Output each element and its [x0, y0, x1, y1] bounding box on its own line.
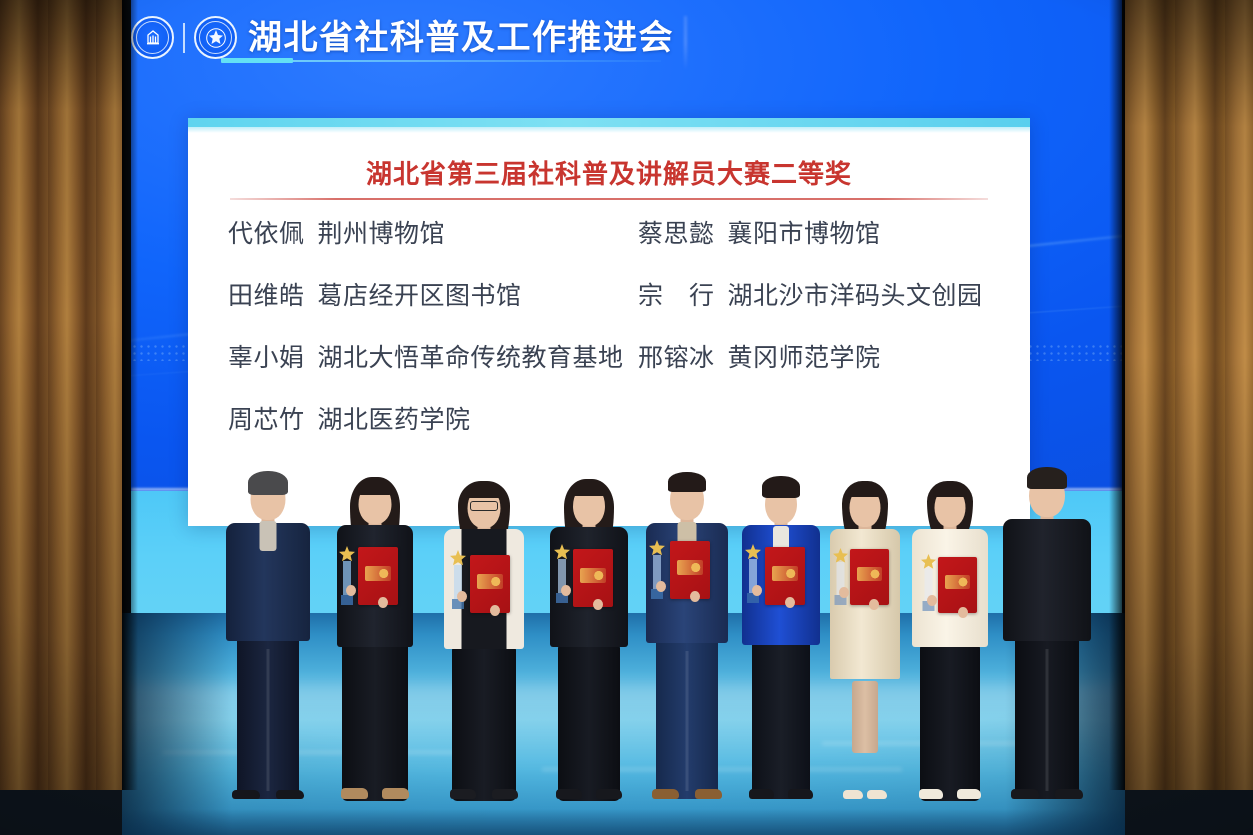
hair — [762, 476, 800, 498]
hair — [1027, 467, 1067, 489]
awardee-org: 湖北大悟革命传统教育基地 — [318, 338, 624, 374]
award-certificate — [850, 549, 889, 605]
awardee-name: 周芯竹 — [228, 400, 305, 436]
person-awardee-3[interactable] — [546, 475, 632, 799]
awardee-name: 辜小娟 — [228, 338, 305, 374]
person-awardee-6[interactable] — [824, 477, 906, 799]
awardee-name: 田维皓 — [228, 276, 305, 312]
panel-top-bar-glow — [188, 127, 1030, 133]
hand — [752, 585, 762, 596]
logo-group — [131, 16, 237, 59]
hand — [457, 591, 467, 602]
award-certificate — [358, 547, 398, 605]
star-trophy-icon — [832, 547, 849, 607]
stage-curtain-left — [0, 0, 122, 790]
hair — [848, 483, 882, 497]
hand — [958, 607, 968, 618]
award-list-panel: 湖北省第三届社科普及讲解员大赛二等奖 代依佩 荆州博物馆 蔡思懿 襄阳市博物馆 … — [188, 118, 1030, 526]
hair — [572, 481, 607, 496]
hand — [785, 597, 795, 608]
header-accent-bar — [221, 58, 293, 63]
leg-separation — [686, 651, 689, 791]
shoe — [1055, 789, 1083, 799]
shoe — [382, 788, 409, 799]
hand — [490, 605, 500, 616]
shoe — [450, 789, 476, 799]
award-certificate — [765, 547, 805, 605]
star-trophy-icon — [553, 543, 571, 605]
social-science-association-emblem-icon — [194, 16, 237, 59]
awardee-row: 周芯竹 湖北医药学院 — [188, 400, 1030, 462]
hair — [248, 471, 288, 495]
person-awardee-1[interactable] — [332, 473, 418, 799]
hand — [593, 599, 603, 610]
shoe — [596, 789, 622, 799]
wide-trousers — [920, 643, 980, 801]
hand — [656, 581, 666, 592]
award-certificate — [470, 555, 510, 613]
awardee-name: 蔡思懿 — [638, 214, 715, 250]
hair — [668, 472, 706, 492]
trousers — [558, 643, 620, 801]
awardee-cell-left: 辜小娟 湖北大悟革命传统教育基地 — [188, 338, 618, 374]
hand — [869, 599, 879, 610]
star-trophy-icon — [449, 549, 467, 611]
hand — [561, 585, 571, 596]
trousers — [752, 641, 810, 799]
curtain-shadow-left — [122, 0, 138, 790]
eyeglasses-icon — [470, 501, 498, 511]
hair — [466, 483, 502, 498]
panel-title-divider — [230, 198, 988, 200]
awardee-org: 葛店经开区图书馆 — [318, 276, 522, 312]
hand — [839, 587, 849, 598]
hand — [346, 585, 356, 596]
ceremony-photo: 湖北省社科普及工作推进会 湖北省第三届社科普及讲解员大赛二等奖 代依佩 荆州博物… — [0, 0, 1253, 835]
shoe — [695, 789, 722, 799]
shoe — [788, 789, 813, 799]
legs — [852, 681, 878, 753]
stage-front-edge — [122, 809, 1125, 835]
wide-trousers — [452, 645, 516, 801]
hand — [927, 595, 937, 606]
star-trophy-icon — [648, 539, 666, 601]
hand — [690, 591, 700, 602]
wide-trousers — [342, 641, 408, 801]
person-awardee-4[interactable] — [642, 469, 732, 799]
person-awardee-5[interactable] — [738, 473, 824, 799]
person-awardee-2[interactable] — [440, 477, 528, 799]
person-awardee-7[interactable] — [908, 477, 992, 799]
logo-divider — [183, 23, 185, 53]
shoe — [957, 789, 981, 799]
awardee-cell-right: 邢镕冰 黄冈师范学院 — [618, 338, 1030, 374]
dark-jacket — [1003, 519, 1091, 641]
curtain-shadow-right — [1109, 0, 1125, 790]
award-certificate — [938, 557, 977, 613]
awardee-org: 湖北医药学院 — [318, 400, 471, 436]
shoe — [867, 790, 887, 799]
shoe — [1011, 789, 1039, 799]
leg-separation — [267, 649, 270, 791]
stage-curtain-right — [1125, 0, 1253, 790]
awardee-cell-right: 蔡思懿 襄阳市博物馆 — [618, 214, 1030, 250]
awardee-org: 襄阳市博物馆 — [728, 214, 881, 250]
awardee-row: 代依佩 荆州博物馆 蔡思懿 襄阳市博物馆 — [188, 214, 1030, 276]
inner-shirt — [260, 521, 277, 551]
award-certificate — [670, 541, 710, 599]
awardee-org: 湖北沙市洋码头文创园 — [728, 276, 983, 312]
shoe — [556, 789, 582, 799]
header-accent-underline — [221, 58, 661, 62]
awardee-cell-right: 宗 行 湖北沙市洋码头文创园 — [618, 276, 1030, 312]
shoe — [843, 790, 863, 799]
awardee-org: 黄冈师范学院 — [728, 338, 881, 374]
shoe — [652, 789, 679, 799]
awardee-cell-left: 周芯竹 湖北医药学院 — [188, 400, 618, 436]
shoe — [341, 788, 368, 799]
award-panel-title: 湖北省第三届社科普及讲解员大赛二等奖 — [188, 154, 1030, 191]
award-certificate — [573, 549, 613, 607]
awardee-name: 代依佩 — [228, 214, 305, 250]
shoe — [749, 789, 774, 799]
shoe — [492, 789, 518, 799]
hair — [933, 483, 967, 497]
awardee-name: 邢镕冰 — [638, 338, 715, 374]
hand — [378, 597, 388, 608]
shoe — [919, 789, 943, 799]
leg-separation — [1046, 649, 1049, 791]
screen-vertical-artifact — [684, 16, 687, 70]
header-accent-line — [293, 60, 661, 62]
awardee-cell-left: 田维皓 葛店经开区图书馆 — [188, 276, 618, 312]
screen-header-title: 湖北省社科普及工作推进会 — [248, 21, 674, 55]
awardee-list: 代依佩 荆州博物馆 蔡思懿 襄阳市博物馆 田维皓 葛店经开区图书馆 宗 行 — [188, 214, 1030, 514]
person-presenter-left[interactable] — [222, 469, 314, 799]
floor-shadow-left — [122, 613, 232, 835]
screen-header: 湖北省社科普及工作推进会 — [131, 16, 674, 59]
star-trophy-icon — [744, 543, 762, 605]
star-trophy-icon — [338, 545, 356, 607]
awardee-row: 辜小娟 湖北大悟革命传统教育基地 邢镕冰 黄冈师范学院 — [188, 338, 1030, 400]
hair — [358, 479, 393, 495]
person-presenter-right[interactable] — [1000, 465, 1094, 799]
awardee-row: 田维皓 葛店经开区图书馆 宗 行 湖北沙市洋码头文创园 — [188, 276, 1030, 338]
panel-top-bar — [188, 118, 1030, 127]
shoe — [232, 790, 260, 799]
awardee-org: 荆州博物馆 — [318, 214, 446, 250]
shoe — [276, 790, 304, 799]
awardee-cell-left: 代依佩 荆州博物馆 — [188, 214, 618, 250]
awardee-name: 宗 行 — [638, 276, 715, 312]
